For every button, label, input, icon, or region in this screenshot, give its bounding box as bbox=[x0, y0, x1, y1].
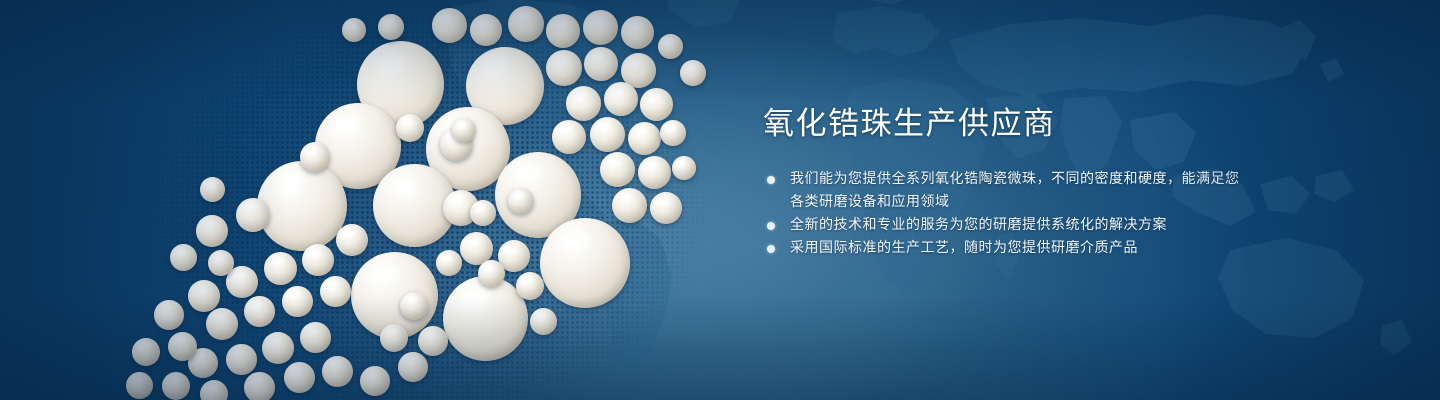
background-vignette bbox=[0, 0, 1440, 400]
hero-banner: 氧化锆珠生产供应商 我们能为您提供全系列氧化锆陶瓷微珠，不同的密度和硬度，能满足… bbox=[0, 0, 1440, 400]
